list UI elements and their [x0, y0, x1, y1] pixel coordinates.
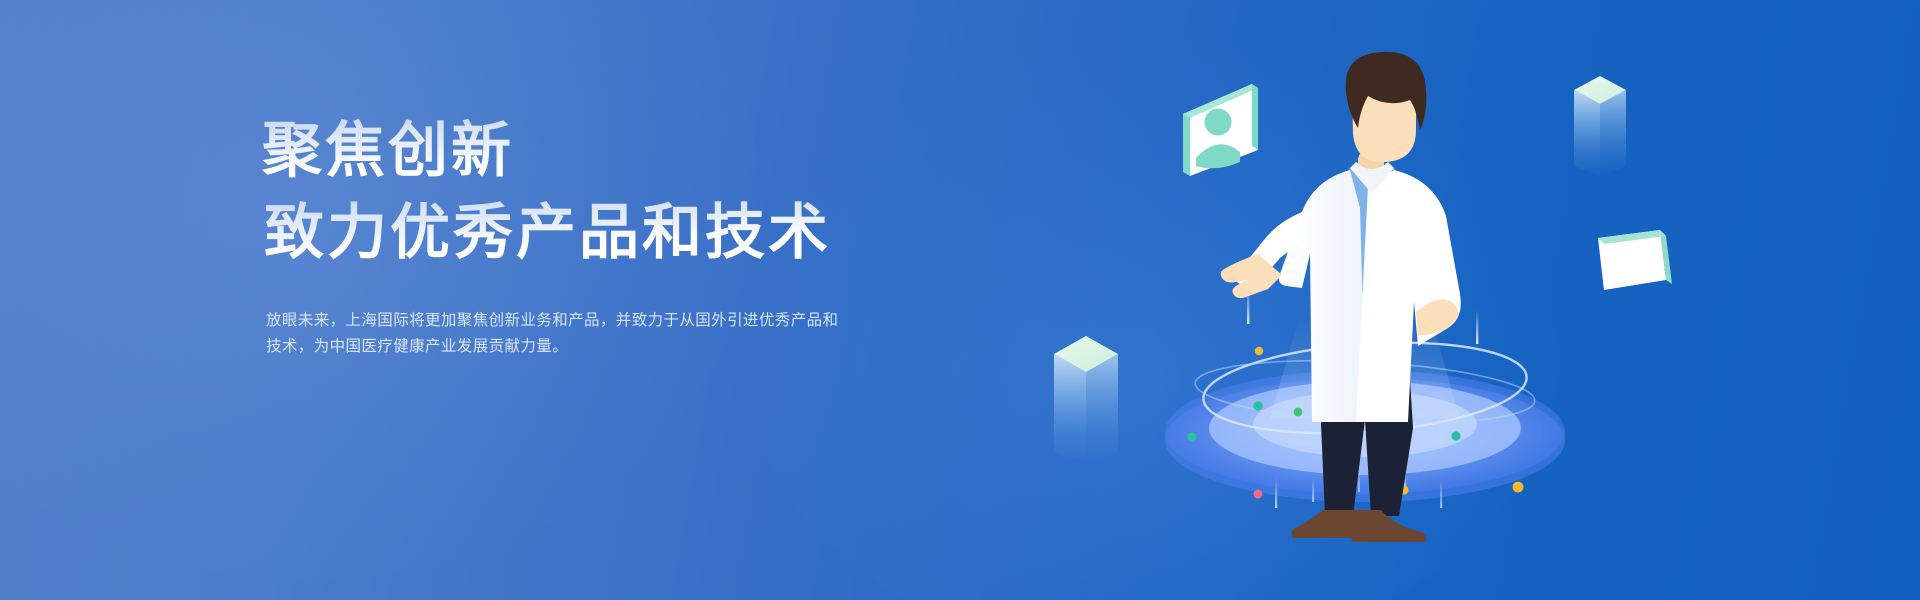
hologram-platform: [1165, 288, 1565, 526]
hero-paragraph: 放眼未来，上海国际将更加聚焦创新业务和产品，并致力于从国外引进优秀产品和技术，为…: [266, 308, 848, 360]
hero-copy: 聚焦创新 致力优秀产品和技术 放眼未来，上海国际将更加聚焦创新业务和产品，并致力…: [262, 110, 902, 360]
doctor-coat-right: [1356, 170, 1461, 422]
headline-line-2: 致力优秀产品和技术: [264, 192, 902, 274]
page-title: 聚焦创新 致力优秀产品和技术: [262, 110, 902, 274]
doctor-coat-left: [1279, 170, 1366, 422]
bar-prism-top-right: [1574, 76, 1626, 176]
user-avatar-card: [1183, 84, 1258, 176]
doctor-hand-pointing: [1221, 254, 1282, 298]
dot-pink: [1254, 490, 1263, 499]
doctor-shoe-left: [1291, 510, 1365, 538]
doctor-arm-left: [1235, 212, 1306, 288]
doctor-face: [1352, 60, 1416, 162]
avatar-body-icon: [1196, 144, 1240, 168]
bar-prism-bottom-left: [1054, 336, 1118, 462]
dot-yellow: [1255, 347, 1263, 355]
avatar-head-icon: [1205, 109, 1232, 136]
dot-green: [1294, 408, 1303, 417]
doctor-hair: [1346, 52, 1427, 130]
doctor-hand-right: [1416, 299, 1458, 336]
white-card-right: [1598, 230, 1672, 290]
doctor-shirt: [1338, 168, 1404, 316]
doctor-trousers: [1321, 300, 1413, 516]
doctor-figure: [1221, 52, 1461, 542]
doctor-shoe-right: [1349, 510, 1427, 542]
dot-teal: [1253, 401, 1262, 410]
headline-line-1: 聚焦创新: [262, 110, 902, 192]
hero-banner: 聚焦创新 致力优秀产品和技术 放眼未来，上海国际将更加聚焦创新业务和产品，并致力…: [0, 0, 1920, 600]
